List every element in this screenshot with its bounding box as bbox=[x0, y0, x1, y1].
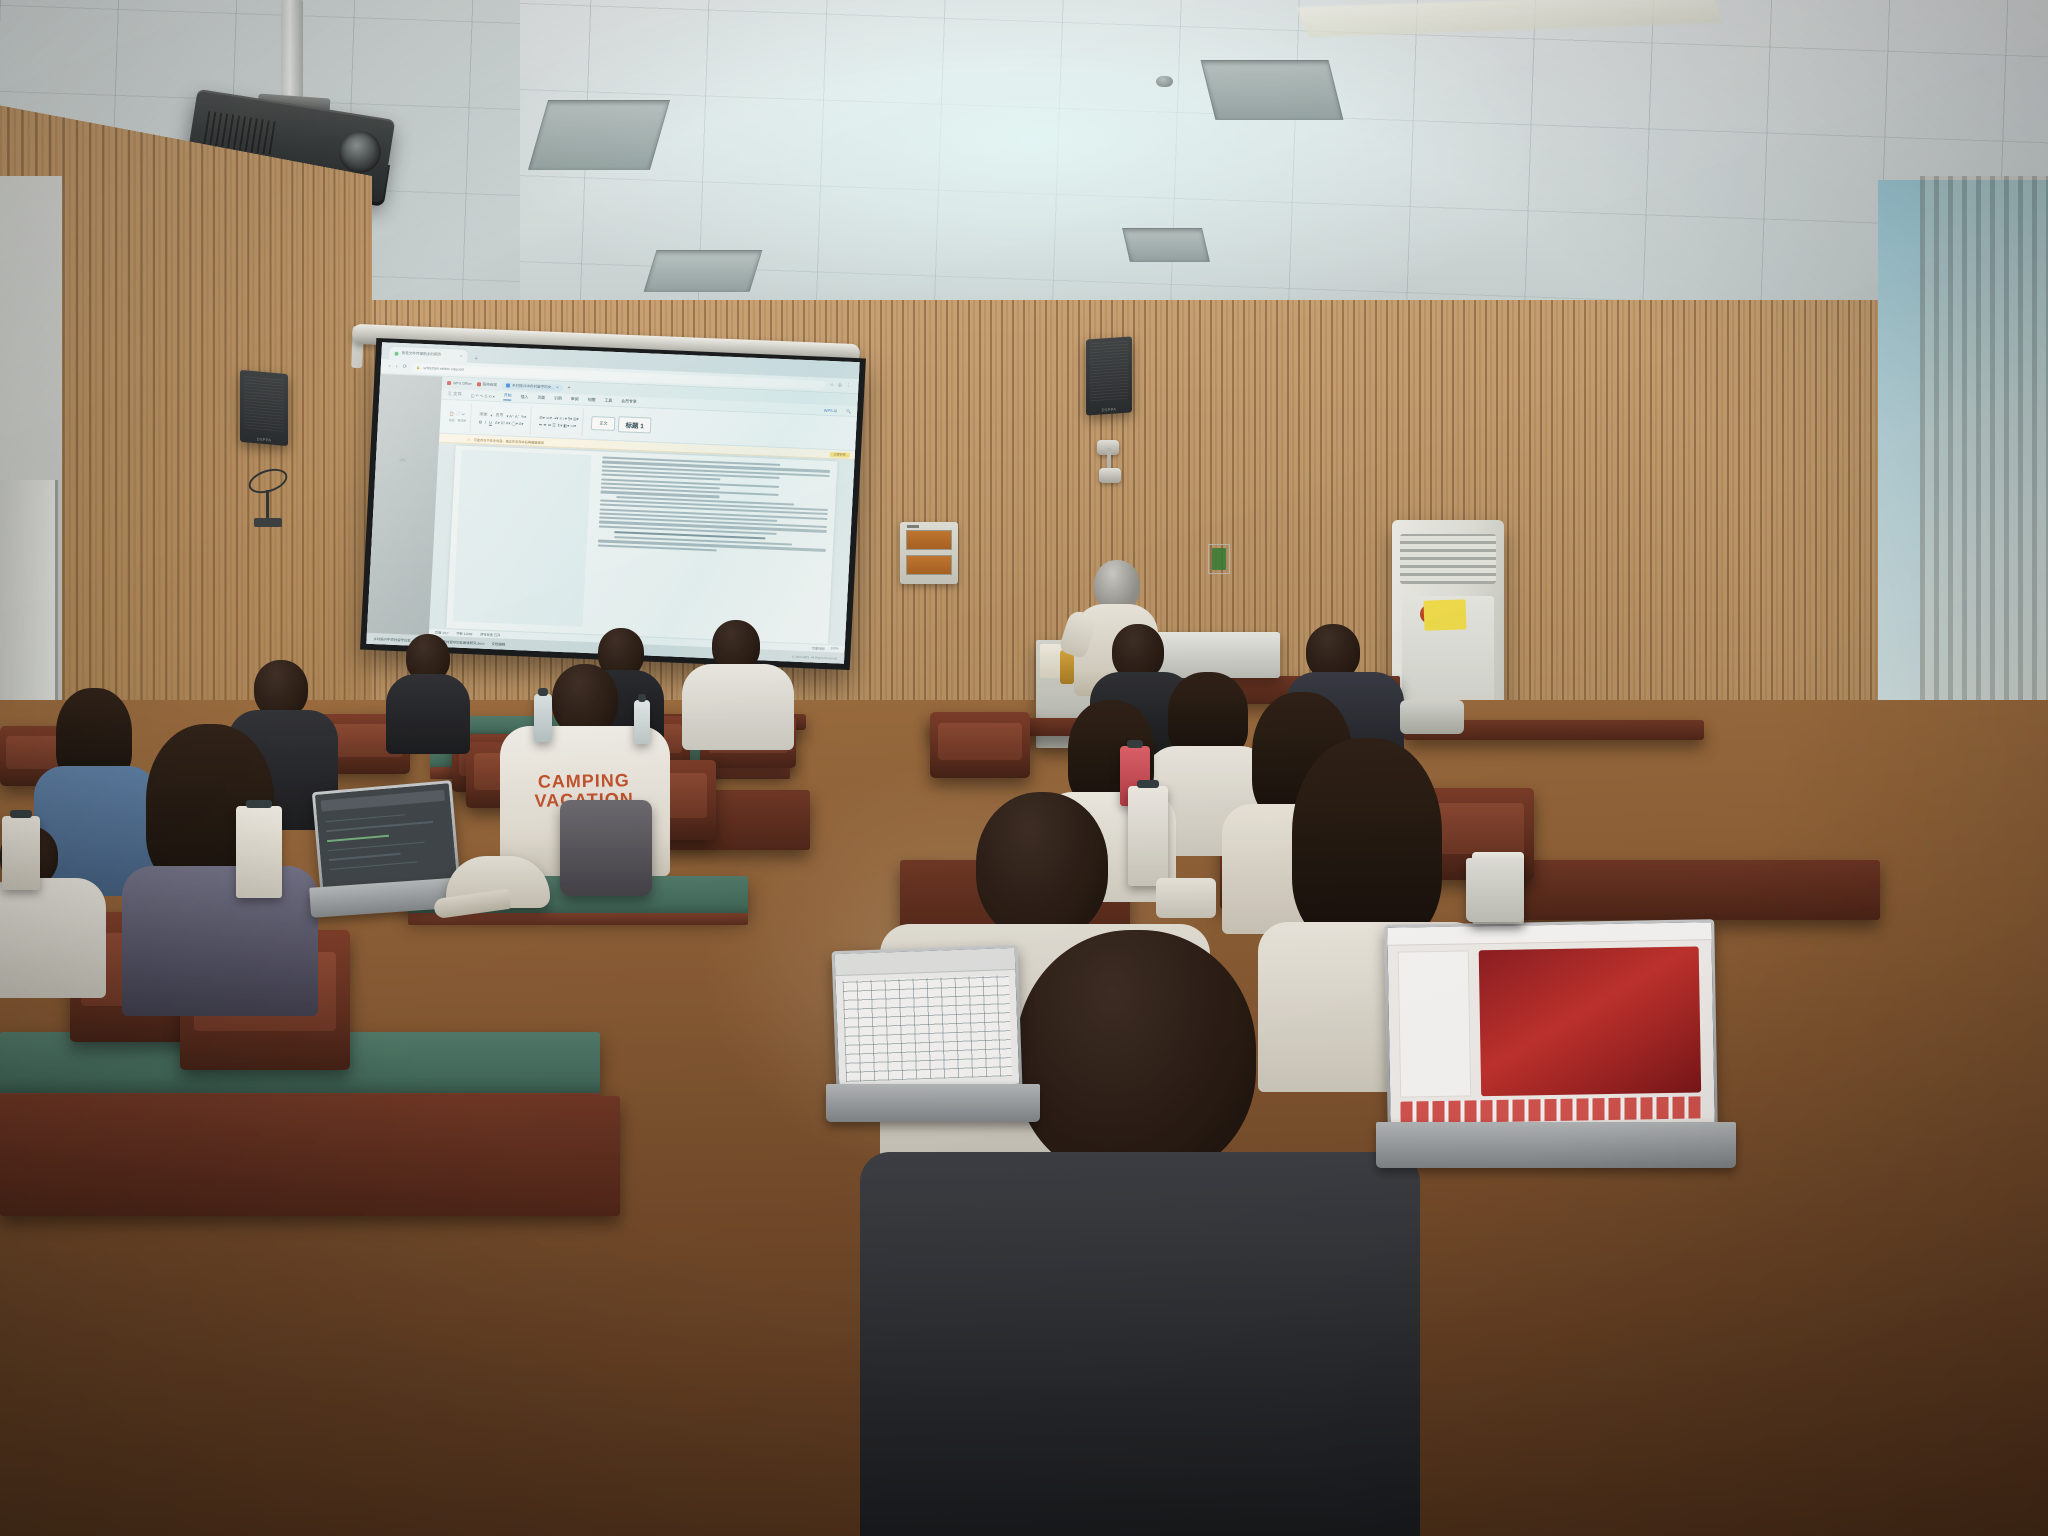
wps-menu-member[interactable]: 会员专享 bbox=[621, 398, 637, 405]
fire-safety-sign bbox=[1208, 544, 1230, 574]
speaker-grille bbox=[244, 374, 284, 431]
wps-toolbar-icons: ◱ ↶ ↷ ⎙ ⟲ ▾ bbox=[471, 392, 495, 398]
close-icon[interactable]: × bbox=[556, 386, 558, 390]
classroom-scene: DSPPA DSPPA bbox=[0, 0, 2048, 1536]
person-body bbox=[386, 674, 470, 754]
audience-member bbox=[112, 724, 312, 1004]
laptop-screen[interactable] bbox=[835, 948, 1020, 1090]
paste-label: 粘贴 bbox=[449, 418, 455, 422]
wps-new-tab-icon[interactable]: + bbox=[567, 385, 570, 391]
wps-menu-insert[interactable]: 插入 bbox=[520, 394, 528, 400]
smoke-detector-icon bbox=[1156, 76, 1173, 87]
desk-front-body bbox=[0, 1096, 620, 1216]
chair[interactable] bbox=[930, 712, 1030, 778]
desk-row-right-far bbox=[1480, 860, 1880, 920]
bottle-cap bbox=[538, 688, 548, 696]
window-curtain bbox=[1920, 176, 2048, 776]
thermos-bottle[interactable] bbox=[2, 816, 40, 890]
thermos-bottle[interactable] bbox=[1128, 786, 1168, 886]
document-icon bbox=[506, 383, 510, 387]
forward-icon[interactable]: › bbox=[396, 364, 398, 370]
wps-menu-review[interactable]: 审阅 bbox=[571, 396, 579, 402]
star-icon[interactable]: ☆ bbox=[830, 382, 834, 388]
menu-icon[interactable]: ⋮ bbox=[846, 383, 851, 389]
wps-logo-icon bbox=[447, 381, 451, 385]
search-icon[interactable]: 🔍 bbox=[846, 408, 851, 413]
layout-mode[interactable]: 页面视图 bbox=[812, 645, 825, 651]
laptop-screen[interactable] bbox=[315, 783, 457, 890]
font-name-select[interactable]: 宋体 bbox=[479, 411, 487, 417]
shop-navbar[interactable] bbox=[1387, 922, 1711, 946]
ceiling-vent bbox=[1201, 60, 1344, 120]
water-bottle[interactable] bbox=[534, 694, 552, 742]
wall-electrical-panel[interactable] bbox=[900, 522, 958, 584]
microphone-stand[interactable] bbox=[248, 470, 292, 532]
wps-document-canvas[interactable] bbox=[429, 443, 854, 645]
wps-ai-button[interactable]: WPS AI bbox=[824, 407, 838, 413]
wall-speaker-left: DSPPA bbox=[240, 370, 288, 446]
audience-member bbox=[386, 634, 470, 744]
ribbon-styles-group: 正文 标题 1 bbox=[587, 408, 656, 439]
shop-hero-banner[interactable] bbox=[1478, 947, 1701, 1096]
laptop-screen[interactable] bbox=[1387, 922, 1714, 1130]
safety-symbol-icon bbox=[1212, 548, 1226, 570]
trash-bin[interactable] bbox=[1466, 858, 1524, 922]
bottle-cap bbox=[1127, 740, 1144, 748]
browser-chrome: 我是文件传输助手的网页 × + ‹ › ⟳ 🔒 szfzkzfqm.wridoc… bbox=[366, 342, 859, 664]
spreadsheet-app bbox=[835, 948, 1020, 1090]
document-page bbox=[446, 445, 838, 644]
bottle-cap bbox=[10, 810, 31, 818]
account-icon[interactable]: ◎ bbox=[838, 382, 842, 388]
wps-menu-view[interactable]: 视图 bbox=[587, 397, 595, 403]
audience-member bbox=[682, 620, 794, 742]
shop-sidebar[interactable] bbox=[1397, 951, 1471, 1098]
bottle-cap bbox=[246, 800, 272, 808]
person-head bbox=[976, 792, 1108, 940]
ceiling-vent bbox=[528, 100, 670, 170]
wps-menu-home[interactable]: 开始 bbox=[504, 392, 512, 400]
browser-tab-title: 我是文件传输助手的网页 bbox=[401, 351, 441, 358]
desk-item[interactable] bbox=[1400, 700, 1464, 734]
projector-mount-pole bbox=[281, 0, 303, 104]
ribbon-paragraph-group: ☰▾ ≔▾ ⇥▾ ≡ ↕▾ ¶▾ ⊞▾ ⬅ ⬌ ➡ ☰ ⇕▾ ◧▾ ▭▾ bbox=[534, 406, 584, 436]
style-normal[interactable]: 正文 bbox=[591, 416, 616, 431]
person-body bbox=[860, 1152, 1420, 1536]
align-buttons[interactable]: ⬅ ⬌ ➡ ☰ ⇕▾ ◧▾ ▭▾ bbox=[539, 421, 579, 428]
ribbon-clipboard-group: 📋 📄 ✂ 粘贴 格式刷 bbox=[445, 402, 472, 431]
ceiling-vent bbox=[644, 250, 763, 292]
browser-actions: ☆ ◎ ⋮ bbox=[830, 382, 851, 389]
water-bottle[interactable] bbox=[634, 700, 650, 744]
shopping-page bbox=[1387, 922, 1714, 1130]
store-icon bbox=[476, 382, 480, 386]
desk-item[interactable] bbox=[1156, 878, 1216, 918]
close-icon[interactable]: × bbox=[460, 353, 463, 358]
wps-store-chip[interactable]: 稻壳商城 bbox=[476, 382, 497, 388]
laptop-lid bbox=[832, 945, 1023, 1093]
laptop-keyboard[interactable] bbox=[826, 1084, 1040, 1122]
panel-window bbox=[906, 530, 952, 550]
style-gallery[interactable]: 正文 标题 1 bbox=[591, 415, 651, 433]
person-body bbox=[122, 866, 318, 1016]
font-size-select[interactable]: 五号 bbox=[495, 412, 503, 418]
wall-speaker-right: DSPPA bbox=[1086, 336, 1132, 415]
ceiling-camera-bracket bbox=[1085, 440, 1131, 480]
microphone-base bbox=[254, 518, 282, 527]
microphone-stem bbox=[266, 490, 269, 520]
thermos-bottle[interactable] bbox=[236, 806, 282, 898]
ceiling-vent bbox=[1122, 228, 1210, 262]
wps-store-label: 稻壳商城 bbox=[482, 382, 497, 388]
document-left-column bbox=[452, 450, 591, 627]
ac-louvers bbox=[1400, 534, 1496, 584]
person-head bbox=[1016, 930, 1256, 1180]
projected-browser-window[interactable]: 我是文件传输助手的网页 × + ‹ › ⟳ 🔒 szfzkzfqm.wridoc… bbox=[366, 342, 859, 664]
bottle-cap bbox=[638, 694, 647, 702]
camera-icon bbox=[1099, 468, 1121, 483]
list-buttons[interactable]: ☰▾ ≔▾ ⇥▾ ≡ ↕▾ ¶▾ ⊞▾ bbox=[539, 414, 579, 421]
taskbar-copyright: © 2024 WPS. All Rights Reserved bbox=[792, 654, 837, 660]
person-body bbox=[0, 878, 106, 998]
warning-text: 可能存在不安全内容，建议先另存本后再编辑使用 bbox=[474, 437, 544, 445]
font-style-buttons[interactable]: B I U A▾ X² A▾ ◯▾ A▾ bbox=[479, 419, 526, 426]
spreadsheet-grid[interactable] bbox=[843, 975, 1012, 1081]
wps-menu-tools[interactable]: 工具 bbox=[604, 398, 612, 404]
warning-icon: ⚠ bbox=[467, 436, 471, 441]
font-selectors[interactable]: 宋体 ▾ 五号 ▾ A⁺ A⁻ ✎▾ bbox=[479, 411, 526, 419]
spellcheck-status: 拼写检查 已开 bbox=[480, 632, 500, 638]
laptop-keyboard[interactable] bbox=[1376, 1122, 1736, 1168]
wps-file-menu[interactable]: 三 文件 bbox=[447, 391, 462, 398]
wps-document-tab[interactable]: 乡村振兴中农村留守妇女... × bbox=[502, 382, 563, 392]
speaker-grille bbox=[1090, 341, 1128, 402]
wps-brand-chip[interactable]: WPS Office bbox=[447, 381, 472, 386]
favicon-icon bbox=[394, 351, 398, 355]
wps-brand-label: WPS Office bbox=[453, 381, 472, 386]
style-heading-1[interactable]: 标题 1 bbox=[618, 416, 651, 433]
panel-label-tag bbox=[907, 525, 919, 528]
panel-window bbox=[906, 555, 952, 575]
save-as-button[interactable]: 立即另存 bbox=[830, 452, 850, 458]
laptop-lid bbox=[312, 780, 460, 894]
ac-warning-sticker bbox=[1423, 599, 1466, 630]
lock-icon: 🔒 bbox=[416, 366, 420, 370]
wps-office-app: ☁ WPS Office 稻壳商城 bbox=[367, 374, 858, 653]
baseball-cap[interactable] bbox=[446, 856, 550, 908]
speaker-brand-label: DSPPA bbox=[1086, 405, 1132, 413]
format-painter-label: 格式刷 bbox=[458, 418, 467, 422]
laptop-lid bbox=[1384, 919, 1718, 1133]
shop-thumbnail-strip[interactable] bbox=[1400, 1096, 1702, 1123]
clipboard-labels: 粘贴 格式刷 bbox=[449, 418, 466, 423]
wps-main-area: WPS Office 稻壳商城 乡村振兴中农村留守妇女... × + bbox=[429, 377, 858, 653]
zoom-level[interactable]: 100% bbox=[830, 646, 838, 651]
person-body bbox=[682, 664, 794, 750]
ribbon-font-group: 宋体 ▾ 五号 ▾ A⁺ A⁻ ✎▾ B I U A▾ X² A▾ ◯▾ A▾ bbox=[475, 404, 532, 434]
person-hair bbox=[1292, 738, 1442, 944]
clipboard-icons[interactable]: 📋 📄 ✂ bbox=[449, 411, 466, 417]
wps-menu-page[interactable]: 页面 bbox=[537, 395, 545, 401]
cloud-icon: ☁ bbox=[398, 453, 408, 464]
reload-icon[interactable]: ⟳ bbox=[402, 364, 407, 370]
backpack[interactable] bbox=[560, 800, 652, 896]
back-icon[interactable]: ‹ bbox=[389, 363, 391, 369]
wps-menu-reference[interactable]: 引用 bbox=[554, 395, 562, 401]
italic-button[interactable]: I bbox=[485, 420, 486, 425]
spreadsheet-toolbar bbox=[835, 948, 1016, 976]
taskbar-item[interactable]: 文档编辑 bbox=[492, 641, 506, 647]
url-text: szfzkzfqm.wridoc.cqq.com bbox=[423, 366, 464, 372]
bottle-cap bbox=[1137, 780, 1159, 788]
bold-button[interactable]: B bbox=[479, 419, 482, 424]
wps-document-title: 乡村振兴中农村留守妇女... bbox=[512, 383, 555, 390]
document-text-body bbox=[597, 457, 830, 556]
underline-button[interactable]: U bbox=[489, 420, 492, 425]
